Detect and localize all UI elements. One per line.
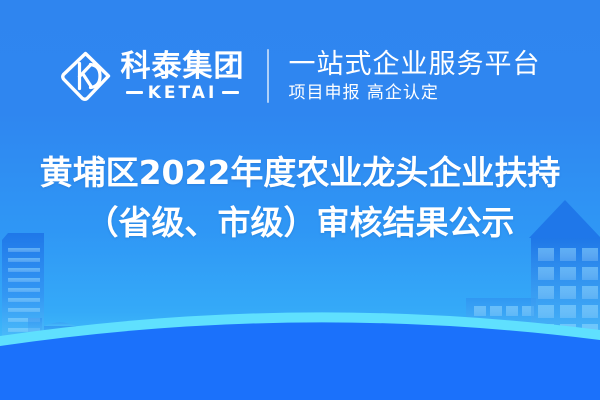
logo-chinese-name: 科泰集团 — [121, 51, 245, 83]
page-title-line-1: 黄埔区2022年度农业龙头企业扶持 — [0, 148, 600, 198]
page-title: 黄埔区2022年度农业龙头企业扶持 （省级、市级）审核结果公示 — [0, 148, 600, 248]
tagline-sub: 项目申报 高企认定 — [289, 83, 439, 103]
company-logo: 科泰集团 KETAI — [60, 50, 245, 102]
logo-rule-right — [222, 91, 239, 94]
tagline-block: 一站式企业服务平台 项目申报 高企认定 — [289, 50, 541, 103]
logo-english-row: KETAI — [121, 84, 245, 102]
bottom-wave-decoration — [0, 290, 600, 400]
building-left-tower — [2, 233, 44, 348]
page-title-line-2: （省级、市级）审核结果公示 — [0, 198, 600, 248]
logo-english-name: KETAI — [148, 84, 218, 102]
tagline-main: 一站式企业服务平台 — [289, 50, 541, 80]
building-right-low — [466, 298, 536, 354]
building-left-low — [28, 318, 86, 350]
logo-rule-left — [126, 91, 143, 94]
banner-header: 科泰集团 KETAI 一站式企业服务平台 项目申报 高企认定 — [0, 38, 600, 114]
logo-wordmark: 科泰集团 KETAI — [121, 51, 245, 102]
ketai-diamond-kd-logo-icon — [60, 50, 112, 102]
promo-banner: 科泰集团 KETAI 一站式企业服务平台 项目申报 高企认定 黄埔区2022年度… — [0, 0, 600, 400]
header-divider — [267, 49, 269, 103]
